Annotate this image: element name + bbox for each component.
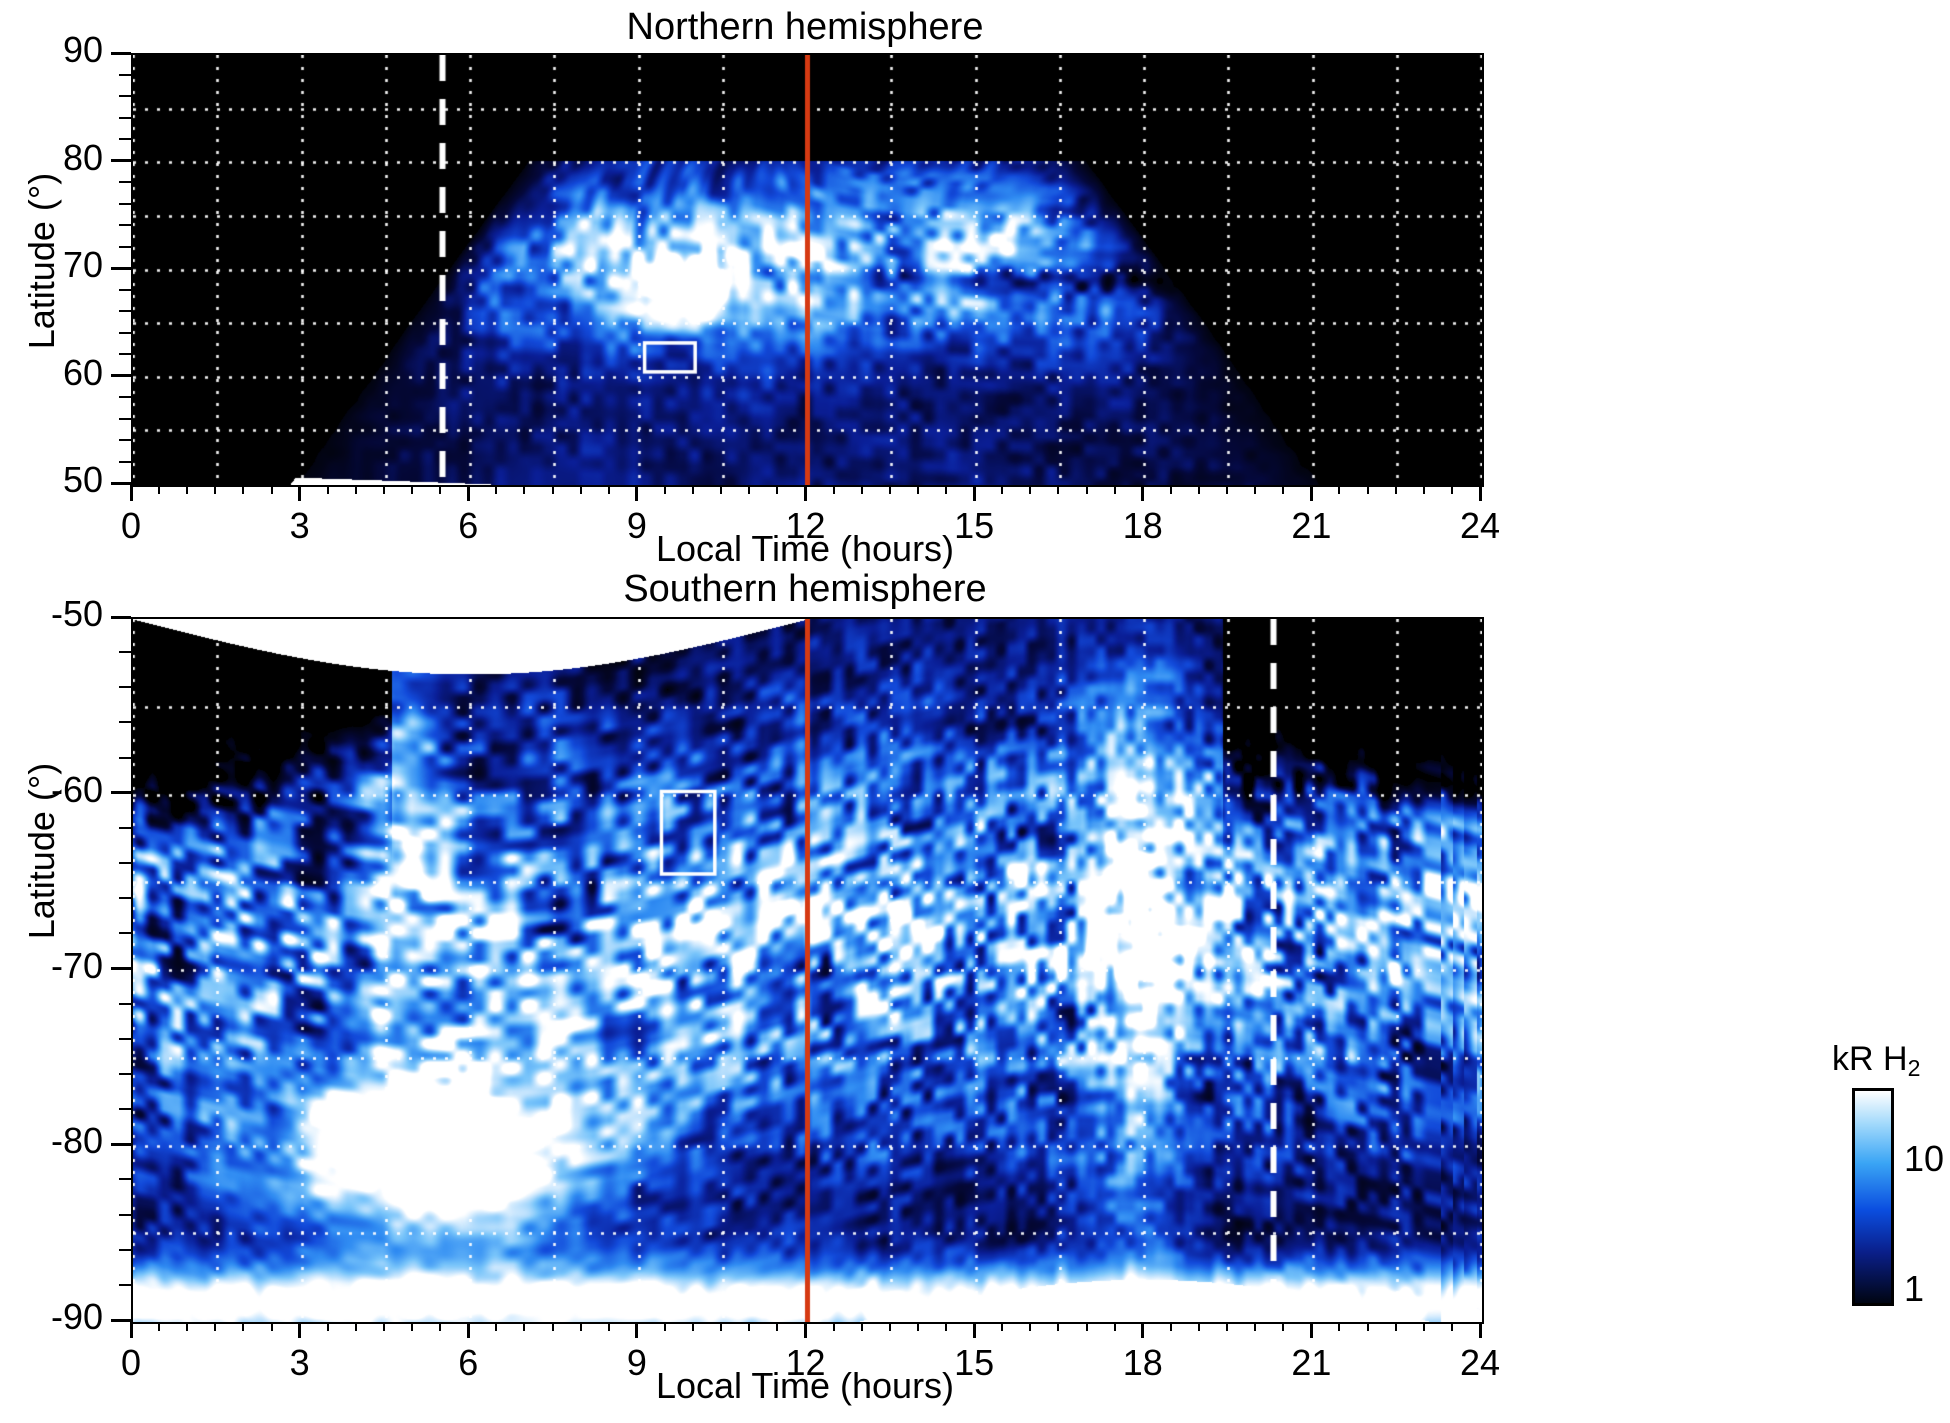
x-tick-label: 24 <box>1440 505 1520 547</box>
y-tick-major <box>111 616 131 619</box>
x-tick-minor <box>1170 485 1172 494</box>
x-tick-minor <box>692 485 694 494</box>
x-tick-minor <box>1254 1322 1256 1331</box>
x-tick-minor <box>861 1322 863 1331</box>
y-tick-minor <box>119 1073 131 1075</box>
x-tick-minor <box>271 1322 273 1331</box>
x-tick-major <box>804 485 807 501</box>
x-tick-major <box>1310 1322 1313 1338</box>
x-tick-minor <box>889 485 891 494</box>
x-tick-label: 0 <box>91 1342 171 1384</box>
y-tick-minor <box>119 181 131 183</box>
x-tick-minor <box>271 485 273 494</box>
y-tick-minor <box>119 353 131 355</box>
x-tick-major <box>973 1322 976 1338</box>
y-tick-minor <box>119 289 131 291</box>
y-tick-label: 60 <box>0 352 103 394</box>
y-tick-minor <box>119 332 131 334</box>
x-tick-major <box>973 485 976 501</box>
southern-y-axis-label: Latitude (°) <box>21 721 63 981</box>
x-tick-minor <box>327 485 329 494</box>
y-tick-minor <box>119 224 131 226</box>
figure-root: Northern hemisphere Latitude (°) Local T… <box>0 0 1950 1423</box>
colorbar-group: kR H2 10 1 <box>1836 1040 1950 1330</box>
y-tick-minor <box>119 396 131 398</box>
y-tick-major <box>111 1143 131 1146</box>
x-tick-minor <box>776 1322 778 1331</box>
x-tick-minor <box>1451 1322 1453 1331</box>
x-tick-minor <box>1338 485 1340 494</box>
x-tick-minor <box>1114 1322 1116 1331</box>
x-tick-minor <box>327 1322 329 1331</box>
x-tick-label: 6 <box>428 1342 508 1384</box>
x-tick-minor <box>1338 1322 1340 1331</box>
x-tick-minor <box>1198 485 1200 494</box>
y-tick-major <box>111 52 131 55</box>
x-tick-minor <box>580 485 582 494</box>
x-tick-major <box>635 485 638 501</box>
x-tick-minor <box>1395 485 1397 494</box>
x-tick-label: 15 <box>934 505 1014 547</box>
x-tick-minor <box>214 1322 216 1331</box>
x-tick-minor <box>664 485 666 494</box>
northern-plot-area[interactable] <box>131 53 1484 487</box>
y-tick-minor <box>119 1003 131 1005</box>
x-tick-minor <box>355 1322 357 1331</box>
y-tick-minor <box>119 1038 131 1040</box>
x-tick-minor <box>1395 1322 1397 1331</box>
x-tick-minor <box>833 485 835 494</box>
y-tick-major <box>111 159 131 162</box>
x-tick-minor <box>608 485 610 494</box>
y-tick-minor <box>119 897 131 899</box>
y-tick-minor <box>119 246 131 248</box>
y-tick-minor <box>119 721 131 723</box>
y-tick-minor <box>119 1284 131 1286</box>
x-tick-major <box>467 485 470 501</box>
x-tick-minor <box>748 485 750 494</box>
x-tick-major <box>1479 485 1482 501</box>
colorbar-gradient[interactable] <box>1852 1088 1894 1306</box>
y-tick-major <box>111 791 131 794</box>
x-tick-minor <box>186 1322 188 1331</box>
x-tick-minor <box>1282 1322 1284 1331</box>
y-tick-minor <box>119 686 131 688</box>
y-tick-minor <box>119 827 131 829</box>
x-tick-major <box>1141 1322 1144 1338</box>
southern-panel-title: Southern hemisphere <box>130 568 1480 611</box>
y-tick-major <box>111 967 131 970</box>
y-tick-minor <box>119 203 131 205</box>
x-tick-minor <box>833 1322 835 1331</box>
x-tick-label: 12 <box>766 505 846 547</box>
x-tick-label: 21 <box>1271 1342 1351 1384</box>
x-tick-label: 0 <box>91 505 171 547</box>
x-tick-minor <box>186 485 188 494</box>
y-tick-minor <box>119 1108 131 1110</box>
x-tick-minor <box>1057 485 1059 494</box>
x-tick-minor <box>383 485 385 494</box>
y-tick-label: -90 <box>0 1296 103 1338</box>
x-tick-minor <box>1423 1322 1425 1331</box>
colorbar-title-subscript: 2 <box>1908 1055 1921 1081</box>
x-tick-minor <box>1001 485 1003 494</box>
y-tick-minor <box>119 932 131 934</box>
y-tick-minor <box>119 138 131 140</box>
y-tick-minor <box>119 439 131 441</box>
x-tick-minor <box>945 485 947 494</box>
y-tick-major <box>111 482 131 485</box>
x-tick-minor <box>1001 1322 1003 1331</box>
y-tick-minor <box>119 74 131 76</box>
northern-panel-title: Northern hemisphere <box>130 6 1480 49</box>
x-tick-label: 3 <box>260 1342 340 1384</box>
y-tick-minor <box>119 95 131 97</box>
x-tick-minor <box>1114 485 1116 494</box>
x-tick-minor <box>1226 485 1228 494</box>
x-tick-minor <box>692 1322 694 1331</box>
x-tick-minor <box>1057 1322 1059 1331</box>
x-tick-major <box>635 1322 638 1338</box>
y-tick-minor <box>119 651 131 653</box>
x-tick-minor <box>214 485 216 494</box>
x-tick-minor <box>158 485 160 494</box>
x-tick-label: 9 <box>597 1342 677 1384</box>
colorbar-title-text: kR H <box>1832 1040 1908 1078</box>
x-tick-minor <box>411 485 413 494</box>
x-tick-label: 6 <box>428 505 508 547</box>
x-tick-minor <box>158 1322 160 1331</box>
x-tick-minor <box>608 1322 610 1331</box>
x-tick-major <box>298 485 301 501</box>
x-tick-minor <box>889 1322 891 1331</box>
colorbar-title: kR H2 <box>1832 1040 1920 1082</box>
y-tick-minor <box>119 1249 131 1251</box>
y-tick-minor <box>119 862 131 864</box>
y-tick-label: 70 <box>0 244 103 286</box>
y-tick-major <box>111 374 131 377</box>
x-tick-major <box>298 1322 301 1338</box>
x-tick-minor <box>552 485 554 494</box>
colorbar-tick-1: 1 <box>1904 1268 1924 1310</box>
x-tick-minor <box>1086 485 1088 494</box>
northern-aurora-image <box>133 55 1482 485</box>
x-tick-minor <box>748 1322 750 1331</box>
x-tick-label: 18 <box>1103 1342 1183 1384</box>
x-tick-minor <box>917 1322 919 1331</box>
x-tick-label: 24 <box>1440 1342 1520 1384</box>
y-tick-label: -70 <box>0 945 103 987</box>
y-tick-major <box>111 267 131 270</box>
y-tick-minor <box>119 1214 131 1216</box>
x-tick-major <box>1479 1322 1482 1338</box>
x-tick-minor <box>523 485 525 494</box>
x-tick-major <box>1310 485 1313 501</box>
x-tick-minor <box>861 485 863 494</box>
x-tick-minor <box>1029 485 1031 494</box>
x-tick-minor <box>495 1322 497 1331</box>
y-tick-minor <box>119 1178 131 1180</box>
x-tick-major <box>467 1322 470 1338</box>
x-tick-minor <box>523 1322 525 1331</box>
x-tick-minor <box>1086 1322 1088 1331</box>
x-tick-label: 21 <box>1271 505 1351 547</box>
y-tick-label: -80 <box>0 1120 103 1162</box>
x-tick-minor <box>664 1322 666 1331</box>
colorbar-tick-10: 10 <box>1904 1138 1944 1180</box>
x-tick-minor <box>776 485 778 494</box>
x-tick-minor <box>1367 485 1369 494</box>
x-tick-minor <box>945 1322 947 1331</box>
x-tick-minor <box>917 485 919 494</box>
southern-plot-area[interactable] <box>131 617 1484 1324</box>
x-tick-minor <box>1367 1322 1369 1331</box>
x-tick-minor <box>242 485 244 494</box>
x-tick-major <box>130 485 133 501</box>
y-tick-label: 90 <box>0 29 103 71</box>
x-tick-minor <box>1198 1322 1200 1331</box>
x-tick-minor <box>1451 485 1453 494</box>
x-tick-minor <box>1423 485 1425 494</box>
y-tick-minor <box>119 117 131 119</box>
y-tick-minor <box>119 310 131 312</box>
x-tick-label: 3 <box>260 505 340 547</box>
x-tick-major <box>130 1322 133 1338</box>
y-tick-label: -60 <box>0 769 103 811</box>
x-tick-minor <box>439 485 441 494</box>
x-tick-minor <box>383 1322 385 1331</box>
y-tick-label: 80 <box>0 137 103 179</box>
x-tick-minor <box>1029 1322 1031 1331</box>
x-tick-label: 12 <box>766 1342 846 1384</box>
x-tick-minor <box>439 1322 441 1331</box>
x-tick-minor <box>411 1322 413 1331</box>
x-tick-minor <box>355 485 357 494</box>
x-tick-label: 15 <box>934 1342 1014 1384</box>
x-tick-label: 18 <box>1103 505 1183 547</box>
x-tick-major <box>1141 485 1144 501</box>
y-tick-minor <box>119 418 131 420</box>
southern-aurora-image <box>133 619 1482 1322</box>
y-tick-label: 50 <box>0 459 103 501</box>
x-tick-major <box>804 1322 807 1338</box>
y-tick-minor <box>119 757 131 759</box>
y-tick-major <box>111 1319 131 1322</box>
x-tick-minor <box>580 1322 582 1331</box>
y-tick-minor <box>119 461 131 463</box>
x-tick-minor <box>1254 485 1256 494</box>
x-tick-minor <box>1170 1322 1172 1331</box>
x-tick-minor <box>1282 485 1284 494</box>
y-tick-label: -50 <box>0 593 103 635</box>
x-tick-label: 9 <box>597 505 677 547</box>
x-tick-minor <box>242 1322 244 1331</box>
x-tick-minor <box>720 1322 722 1331</box>
x-tick-minor <box>1226 1322 1228 1331</box>
x-tick-minor <box>495 485 497 494</box>
x-tick-minor <box>720 485 722 494</box>
x-tick-minor <box>552 1322 554 1331</box>
